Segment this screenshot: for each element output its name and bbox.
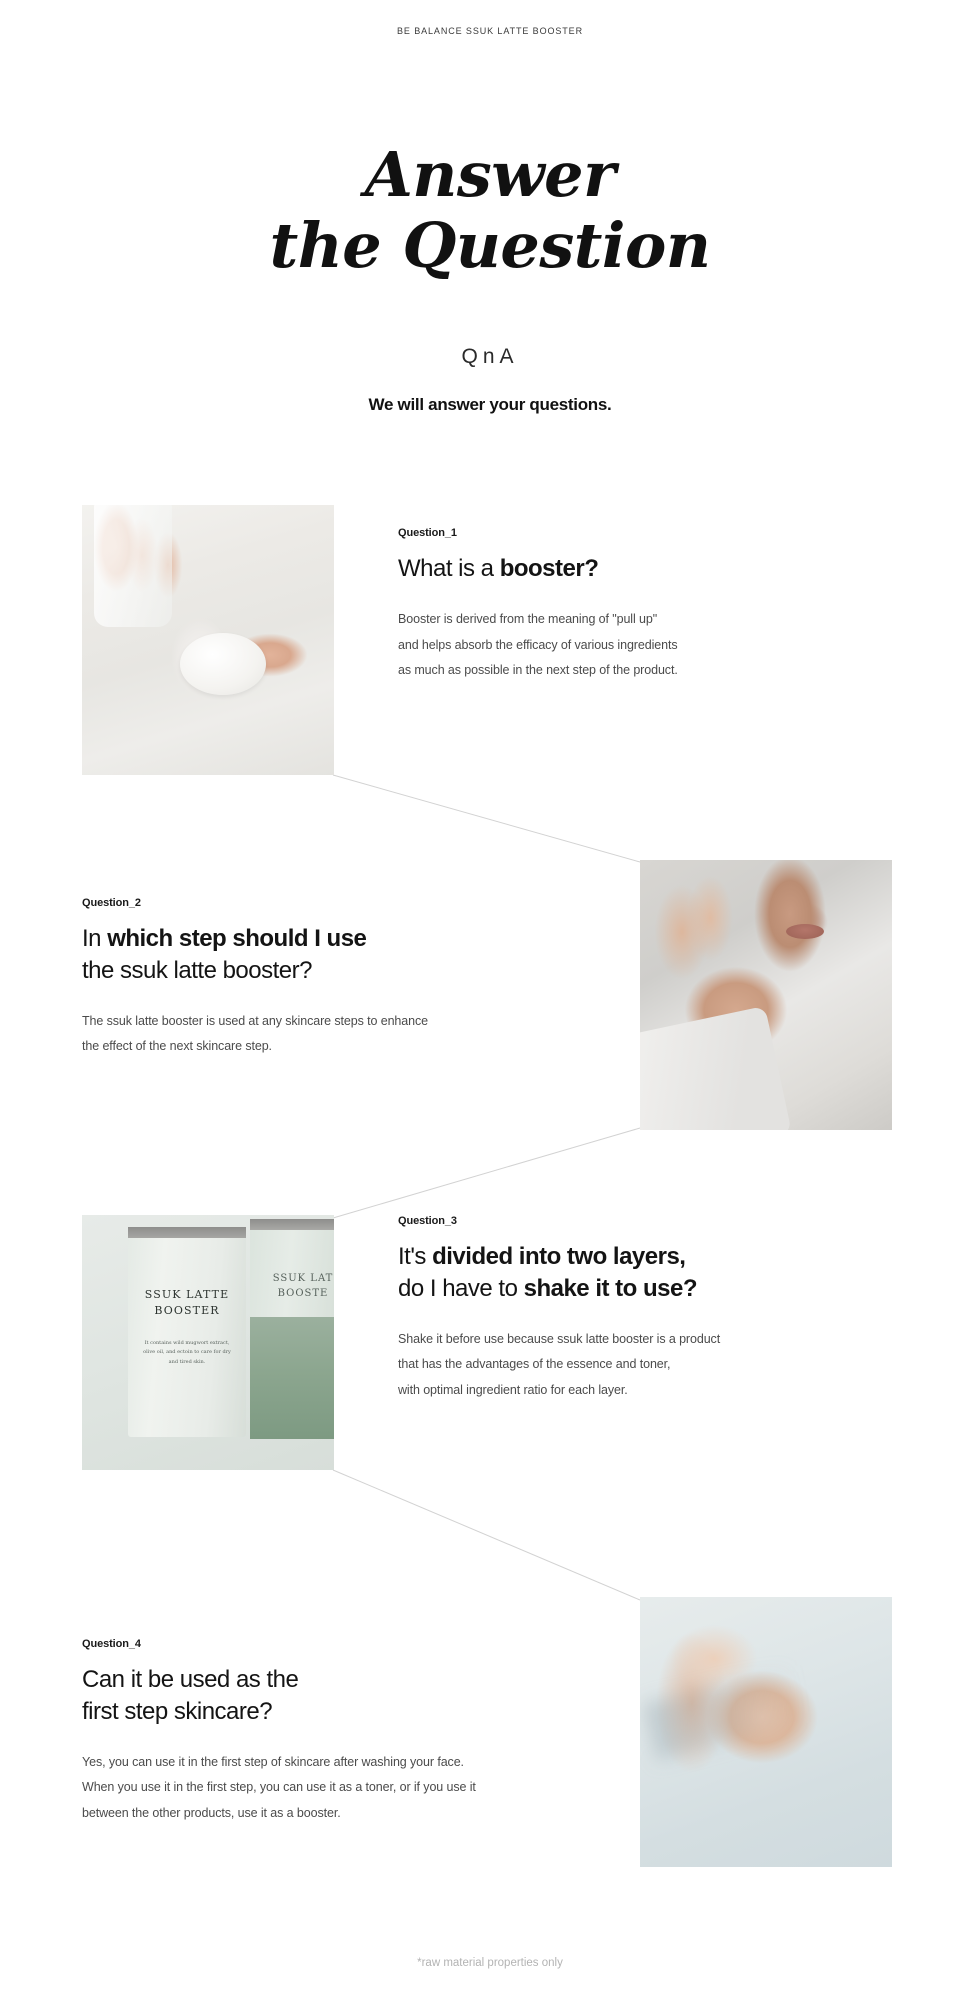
question-3-headline-line-1: It's divided into two layers,: [398, 1241, 898, 1273]
question-3-body-line-2: that has the advantages of the essence a…: [398, 1352, 898, 1378]
hero-title-line-2: the Question: [0, 211, 980, 282]
photo-1-bottle: [94, 505, 172, 627]
question-3-headline-tail-bold: shake it to use?: [524, 1275, 697, 1302]
question-3-headline-bold: divided into two layers,: [432, 1243, 685, 1270]
question-3-headline-line-2: do I have to shake it to use?: [398, 1273, 898, 1305]
footer-note: *raw material properties only: [0, 1957, 980, 1969]
bottle-left-name-line-1: SSUK LATTE: [128, 1287, 246, 1303]
question-1-body-line-2: and helps absorb the efficacy of various…: [398, 633, 868, 659]
photo-3-bottle-left-cap: [128, 1227, 246, 1238]
question-2-label: Question_2: [82, 897, 602, 909]
question-1-photo: [82, 505, 334, 775]
connector-line-3: [333, 1470, 640, 1600]
question-3-label: Question_3: [398, 1215, 898, 1227]
question-1-body-line-1: Booster is derived from the meaning of "…: [398, 607, 868, 633]
question-4-body-line-1: Yes, you can use it in the first step of…: [82, 1750, 622, 1776]
question-3-photo: SSUK LAT BOOSTE SSUK LATTE BOOSTER It co…: [82, 1215, 334, 1470]
question-2-body: The ssuk latte booster is used at any sk…: [82, 1009, 602, 1060]
question-1-headline-bold: booster?: [500, 555, 599, 582]
bottle-right-name-line-1: SSUK LAT: [250, 1271, 334, 1286]
question-4-block: Question_4 Can it be used as the first s…: [82, 1638, 622, 1827]
question-2-headline-line-1: In which step should I use: [82, 923, 602, 955]
question-4-headline-line-2: first step skincare?: [82, 1696, 622, 1728]
question-2-photo: [640, 860, 892, 1130]
question-2-headline-line-2: the ssuk latte booster?: [82, 955, 602, 987]
bottle-left-name-line-2: BOOSTER: [128, 1303, 246, 1319]
question-4-headline-line-1: Can it be used as the: [82, 1664, 622, 1696]
question-4-body-line-2: When you use it in the first step, you c…: [82, 1775, 622, 1801]
photo-3-bottle-left-label: SSUK LATTE BOOSTER: [128, 1287, 246, 1319]
photo-3-bottle-left-description: It contains wild mugwort extract, olive …: [140, 1339, 234, 1367]
question-3-body-line-3: with optimal ingredient ratio for each l…: [398, 1378, 898, 1404]
page-brand-header: BE BALANCE SSUK LATTE BOOSTER: [0, 26, 980, 36]
hero-title-block: Answer the Question: [0, 140, 980, 281]
photo-1-cotton-pad: [180, 633, 266, 695]
hero-eyebrow-qna: QnA: [0, 345, 980, 369]
question-3-body: Shake it before use because ssuk latte b…: [398, 1327, 898, 1404]
photo-3-bottle-right: SSUK LAT BOOSTE: [250, 1219, 334, 1439]
question-3-block: Question_3 It's divided into two layers,…: [398, 1215, 898, 1404]
question-3-headline-plain: It's: [398, 1243, 432, 1270]
photo-3-bottle-right-label: SSUK LAT BOOSTE: [250, 1271, 334, 1301]
question-2-headline-plain: In: [82, 925, 107, 952]
question-4-body-line-3: between the other products, use it as a …: [82, 1801, 622, 1827]
photo-3-bottle-left: SSUK LATTE BOOSTER It contains wild mugw…: [128, 1227, 246, 1437]
question-2-headline: In which step should I use the ssuk latt…: [82, 923, 602, 987]
connector-line-1: [333, 775, 640, 862]
question-4-photo: [640, 1597, 892, 1867]
question-1-headline: What is a booster?: [398, 553, 868, 585]
question-2-body-line-2: the effect of the next skincare step.: [82, 1034, 602, 1060]
connector-line-2: [333, 1128, 640, 1218]
bottle-right-name-line-2: BOOSTE: [250, 1286, 334, 1301]
photo-3-bottle-right-liquid: [250, 1317, 334, 1439]
question-4-headline: Can it be used as the first step skincar…: [82, 1664, 622, 1728]
question-4-body: Yes, you can use it in the first step of…: [82, 1750, 622, 1827]
question-2-block: Question_2 In which step should I use th…: [82, 897, 602, 1060]
question-1-label: Question_1: [398, 527, 868, 539]
question-4-label: Question_4: [82, 1638, 622, 1650]
question-3-body-line-1: Shake it before use because ssuk latte b…: [398, 1327, 898, 1353]
question-2-headline-bold: which step should I use: [107, 925, 366, 952]
question-3-headline: It's divided into two layers, do I have …: [398, 1241, 898, 1305]
question-1-block: Question_1 What is a booster? Booster is…: [398, 527, 868, 684]
hero-subtitle: We will answer your questions.: [0, 395, 980, 415]
question-1-body: Booster is derived from the meaning of "…: [398, 607, 868, 684]
question-1-body-line-3: as much as possible in the next step of …: [398, 658, 868, 684]
question-3-headline-tail-plain: do I have to: [398, 1275, 524, 1302]
hero-title-line-1: Answer: [0, 140, 980, 211]
photo-3-bottle-right-cap: [250, 1219, 334, 1230]
photo-2-lips: [786, 924, 824, 939]
question-2-body-line-1: The ssuk latte booster is used at any sk…: [82, 1009, 602, 1035]
question-1-headline-plain: What is a: [398, 555, 500, 582]
